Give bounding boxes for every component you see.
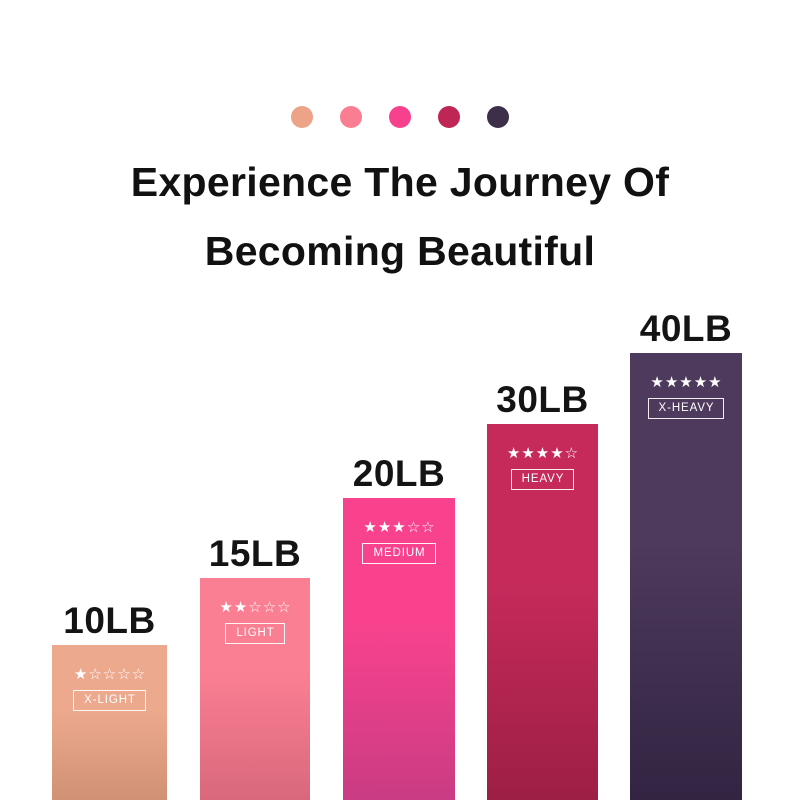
star-filled-icon: ★ [694,375,707,390]
star-empty-icon: ☆ [248,600,261,615]
resistance-bar-chart: 10LB★☆☆☆☆X-LIGHT15LB★★☆☆☆LIGHT20LB★★★☆☆M… [0,0,800,800]
star-empty-icon: ☆ [277,600,290,615]
bar-group-40lb[interactable]: 40LB★★★★★X-HEAVY [630,301,742,800]
bar-group-10lb[interactable]: 10LB★☆☆☆☆X-LIGHT [52,593,167,800]
bar-fill: ★★★★★X-HEAVY [630,353,742,800]
star-filled-icon: ★ [650,375,663,390]
bar-fill: ★★★★☆HEAVY [487,424,598,800]
resistance-level-badge: X-LIGHT [73,690,146,711]
star-empty-icon: ☆ [132,667,145,682]
bar-weight-label: 15LB [200,535,310,572]
bar-fill: ★★★☆☆MEDIUM [343,498,455,800]
resistance-level-badge: X-HEAVY [648,398,725,419]
star-filled-icon: ★ [234,600,247,615]
star-empty-icon: ☆ [565,446,578,461]
star-filled-icon: ★ [507,446,520,461]
bar-content: ★★★☆☆MEDIUM [343,520,455,564]
bar-weight-label: 40LB [630,310,742,347]
bar-group-15lb[interactable]: 15LB★★☆☆☆LIGHT [200,526,310,800]
star-filled-icon: ★ [392,520,405,535]
bar-fill: ★☆☆☆☆X-LIGHT [52,645,167,800]
star-rating: ★★★★☆ [507,446,578,461]
star-filled-icon: ★ [219,600,232,615]
star-empty-icon: ☆ [103,667,116,682]
bar-group-20lb[interactable]: 20LB★★★☆☆MEDIUM [343,446,455,800]
star-filled-icon: ★ [550,446,563,461]
star-filled-icon: ★ [536,446,549,461]
bar-content: ★★☆☆☆LIGHT [200,600,310,644]
bar-weight-label: 10LB [52,602,167,639]
resistance-level-badge: LIGHT [225,623,284,644]
star-rating: ★★☆☆☆ [219,600,290,615]
bar-content: ★★★★★X-HEAVY [630,375,742,419]
bar-weight-label: 30LB [487,381,598,418]
star-filled-icon: ★ [521,446,534,461]
star-filled-icon: ★ [679,375,692,390]
star-empty-icon: ☆ [421,520,434,535]
bar-content: ★☆☆☆☆X-LIGHT [52,667,167,711]
bar-group-30lb[interactable]: 30LB★★★★☆HEAVY [487,372,598,800]
star-filled-icon: ★ [74,667,87,682]
star-empty-icon: ☆ [88,667,101,682]
infographic-canvas: Experience The Journey Of Becoming Beaut… [0,0,800,800]
bar-content: ★★★★☆HEAVY [487,446,598,490]
star-empty-icon: ☆ [117,667,130,682]
star-rating: ★☆☆☆☆ [74,667,145,682]
star-filled-icon: ★ [378,520,391,535]
bar-fill: ★★☆☆☆LIGHT [200,578,310,800]
resistance-level-badge: HEAVY [511,469,575,490]
star-filled-icon: ★ [708,375,721,390]
bar-weight-label: 20LB [343,455,455,492]
star-empty-icon: ☆ [263,600,276,615]
resistance-level-badge: MEDIUM [362,543,435,564]
star-empty-icon: ☆ [407,520,420,535]
star-filled-icon: ★ [363,520,376,535]
star-rating: ★★★★★ [650,375,721,390]
star-rating: ★★★☆☆ [363,520,434,535]
star-filled-icon: ★ [665,375,678,390]
